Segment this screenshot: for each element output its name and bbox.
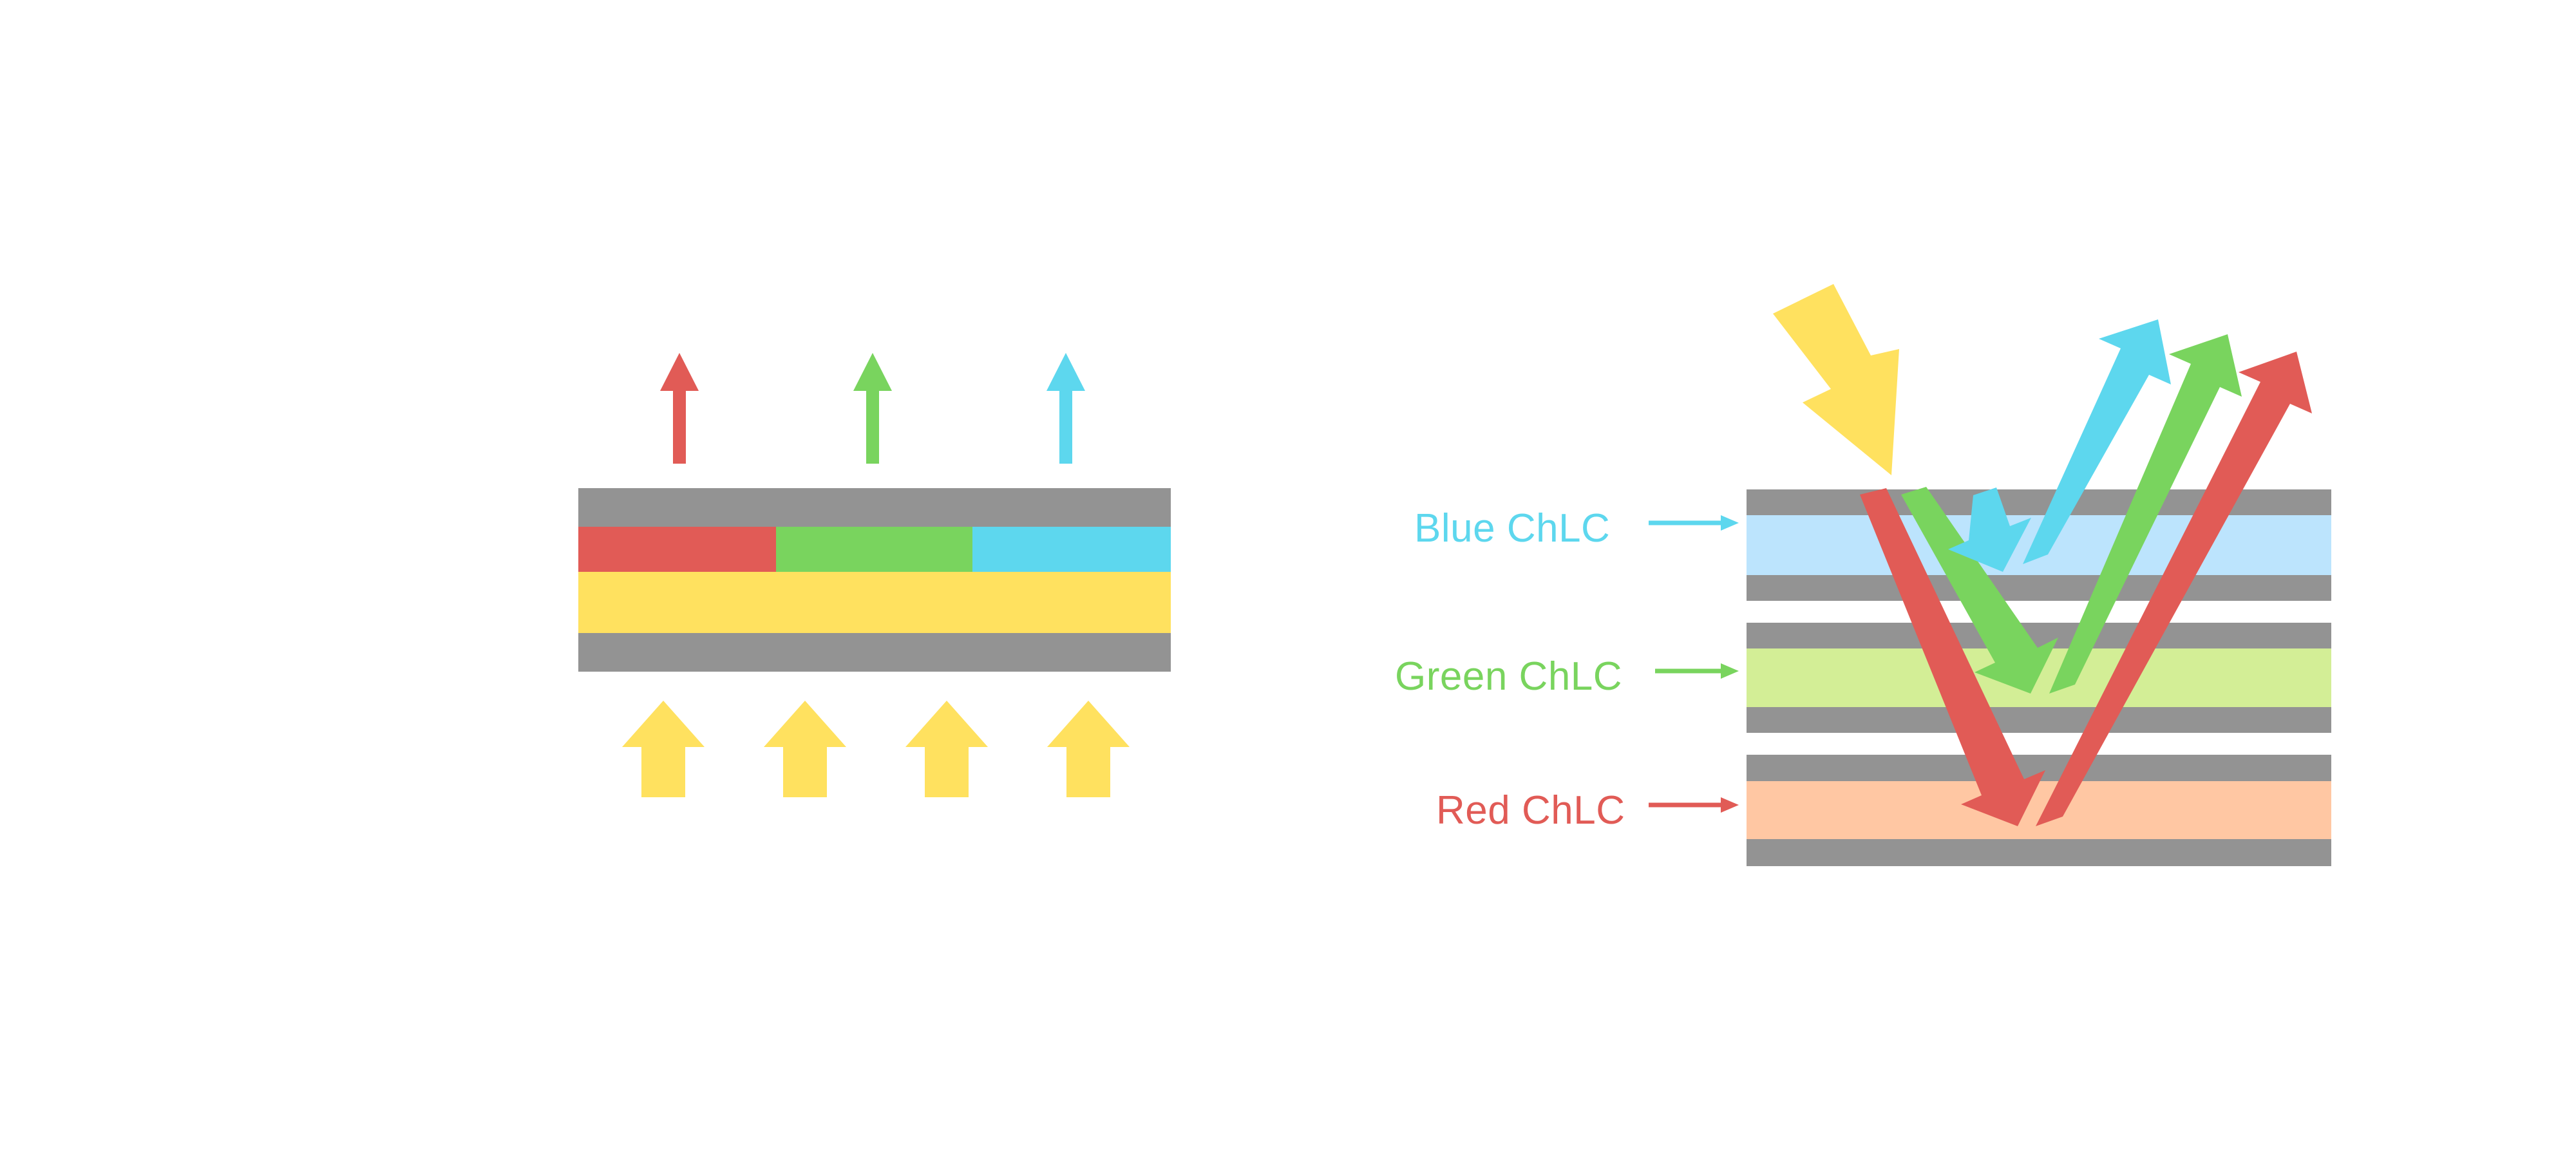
red-output-arrow xyxy=(660,353,699,464)
left-top-electrode xyxy=(578,488,1171,527)
green-filter-segment xyxy=(776,527,972,572)
electrode-3 xyxy=(1747,623,2331,648)
diagram-canvas: Blue ChLC Green ChLC Red ChLC xyxy=(0,0,2576,1154)
green-output-arrow xyxy=(853,353,892,464)
red-filter-segment xyxy=(578,527,776,572)
blue-label-arrow-icon xyxy=(1649,515,1739,531)
left-bottom-electrode xyxy=(578,633,1171,672)
left-panel-stack xyxy=(578,488,1171,672)
green-chlc-label: Green ChLC xyxy=(1395,657,1622,697)
cyan-filter-segment xyxy=(972,527,1171,572)
left-panel xyxy=(578,353,1171,797)
blue-chlc-label: Blue ChLC xyxy=(1414,509,1610,549)
left-panel-output-arrows xyxy=(660,353,1085,464)
ambient-white-light-arrow xyxy=(1773,284,1899,475)
yellow-backlight-arrow-1 xyxy=(622,701,705,797)
red-label-arrow-icon xyxy=(1649,797,1739,813)
yellow-backlight-layer xyxy=(578,572,1171,633)
yellow-backlight-arrow-2 xyxy=(764,701,846,797)
electrode-1 xyxy=(1747,489,2331,515)
red-chlc-layer xyxy=(1747,781,2331,839)
right-panel-label-arrows xyxy=(1649,515,1739,813)
red-chlc-label: Red ChLC xyxy=(1436,791,1625,831)
cyan-output-arrow xyxy=(1046,353,1085,464)
right-panel xyxy=(1649,284,2331,866)
diagram-svg xyxy=(0,0,2576,1154)
yellow-backlight-arrow-4 xyxy=(1047,701,1130,797)
yellow-backlight-arrow-3 xyxy=(905,701,988,797)
green-label-arrow-icon xyxy=(1655,663,1739,679)
left-panel-backlight-arrows xyxy=(622,701,1130,797)
electrode-4 xyxy=(1747,707,2331,733)
electrode-2 xyxy=(1747,575,2331,601)
electrode-6 xyxy=(1747,839,2331,866)
